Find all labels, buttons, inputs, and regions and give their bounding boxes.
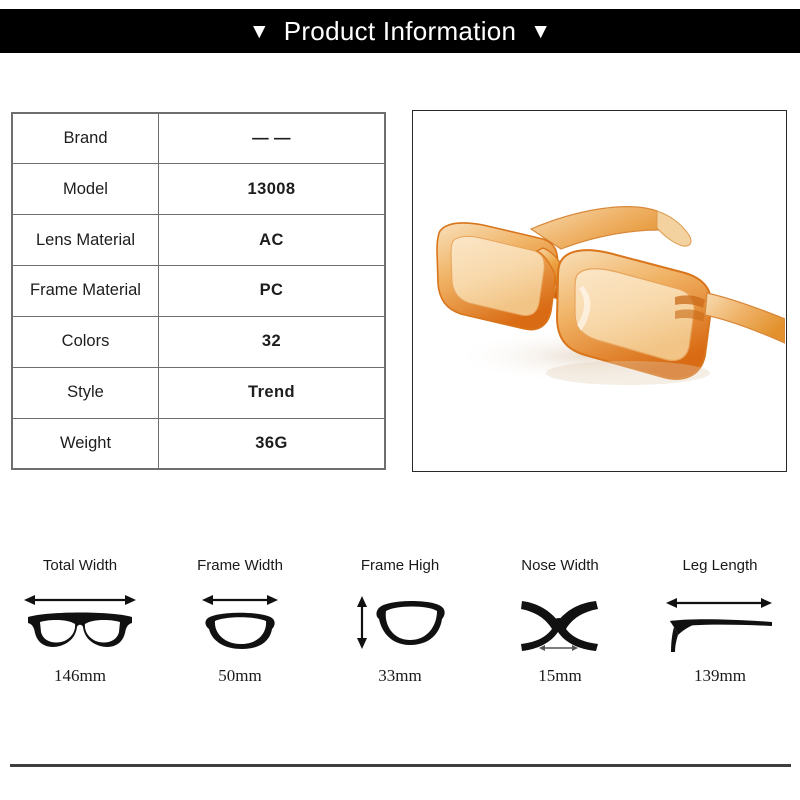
product-photo: [412, 110, 787, 472]
dimension-value: 146mm: [54, 667, 106, 684]
specification-table: Brand — — Model 13008 Lens Material AC F…: [11, 112, 386, 470]
spec-value-frame-material: PC: [159, 266, 385, 317]
bottom-divider: [10, 764, 791, 767]
spec-value-model: 13008: [159, 164, 385, 215]
table-row: Lens Material AC: [13, 215, 384, 266]
dimension-value: 33mm: [378, 667, 421, 684]
sunglasses-illustration: [413, 111, 785, 470]
table-row: Weight 36G: [13, 418, 384, 468]
dimension-label: Total Width: [43, 558, 117, 573]
horizontal-arrow: [202, 595, 278, 605]
triangle-down-right-icon: ▼: [530, 21, 551, 42]
spec-key-model: Model: [13, 164, 159, 215]
triangle-down-left-icon: ▼: [249, 21, 270, 42]
dimension-label: Frame Width: [197, 558, 283, 573]
dimension-total-width: Total Width 146mm: [0, 558, 160, 698]
single-lens-icon: [192, 591, 288, 653]
spec-key-colors: Colors: [13, 316, 159, 367]
dimension-label: Leg Length: [682, 558, 757, 573]
full-glasses-icon: [20, 591, 140, 653]
spec-key-style: Style: [13, 367, 159, 418]
spec-table-body: Brand — — Model 13008 Lens Material AC F…: [13, 114, 384, 468]
table-row: Style Trend: [13, 367, 384, 418]
spec-value-weight: 36G: [159, 418, 385, 468]
single-lens-icon: [352, 591, 448, 653]
dimension-nose-width: Nose Width 15mm: [480, 558, 640, 698]
horizontal-arrow: [666, 598, 772, 608]
header-banner: ▼ Product Information ▼: [0, 9, 800, 53]
table-row: Colors 32: [13, 316, 384, 367]
dimension-label: Frame High: [361, 558, 439, 573]
spec-key-lens-material: Lens Material: [13, 215, 159, 266]
nose-bridge-icon: [512, 591, 608, 653]
horizontal-arrow-small: [539, 645, 578, 651]
dimensions-row: Total Width 146mm Frame Width: [0, 558, 800, 698]
table-row: Brand — —: [13, 114, 384, 164]
horizontal-arrow: [24, 595, 136, 605]
dimension-leg-length: Leg Length 139mm: [640, 558, 800, 698]
spec-key-weight: Weight: [13, 418, 159, 468]
dimension-label: Nose Width: [521, 558, 599, 573]
dimension-frame-high: Frame High 33mm: [320, 558, 480, 698]
temple-silhouette: [670, 619, 772, 652]
spec-value-brand: — —: [159, 114, 385, 164]
temple-arm-icon: [662, 591, 778, 653]
spec-key-frame-material: Frame Material: [13, 266, 159, 317]
dimension-value: 15mm: [538, 667, 581, 684]
dimension-value: 139mm: [694, 667, 746, 684]
spec-value-style: Trend: [159, 367, 385, 418]
spec-value-lens-material: AC: [159, 215, 385, 266]
table-row: Model 13008: [13, 164, 384, 215]
page-title: Product Information: [284, 18, 517, 44]
vertical-arrow: [357, 596, 367, 649]
table-row: Frame Material PC: [13, 266, 384, 317]
dimension-value: 50mm: [218, 667, 261, 684]
spec-value-colors: 32: [159, 316, 385, 367]
bridge-silhouette: [521, 601, 598, 651]
spec-key-brand: Brand: [13, 114, 159, 164]
dimension-frame-width: Frame Width 50mm: [160, 558, 320, 698]
